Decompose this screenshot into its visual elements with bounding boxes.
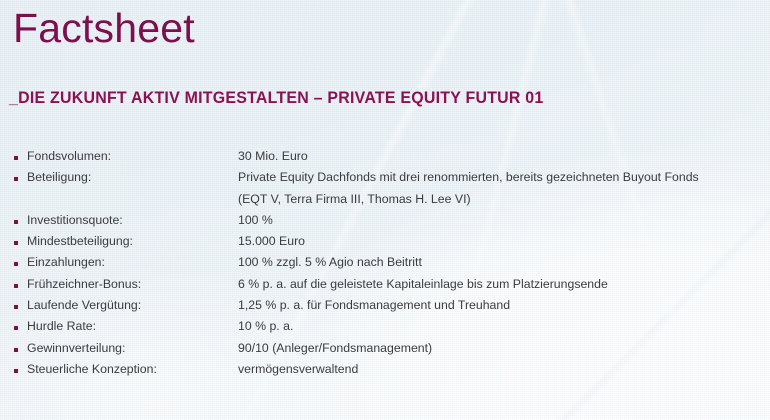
- spec-value: vermögensverwaltend: [238, 362, 358, 376]
- spec-row: Gewinnverteilung:90/10 (Anleger/Fondsman…: [0, 341, 770, 362]
- spec-label: Laufende Vergütung:: [27, 298, 141, 312]
- spec-row: Fondsvolumen:30 Mio. Euro: [0, 149, 770, 170]
- spec-label: Einzahlungen:: [27, 255, 105, 269]
- spec-label: Hurdle Rate:: [27, 319, 96, 333]
- spec-value: Private Equity Dachfonds mit drei renomm…: [238, 170, 699, 184]
- spec-value: 100 %: [238, 213, 273, 227]
- spec-label: Beteiligung:: [27, 170, 91, 184]
- spec-value: 100 % zzgl. 5 % Agio nach Beitritt: [238, 255, 422, 269]
- square-bullet-icon: [14, 241, 18, 245]
- section-heading: _DIE ZUKUNFT AKTIV MITGESTALTEN – PRIVAT…: [9, 89, 544, 108]
- square-bullet-icon: [14, 220, 18, 224]
- square-bullet-icon: [14, 369, 18, 373]
- spec-value-continuation: (EQT V, Terra Firma III, Thomas H. Lee V…: [238, 192, 471, 206]
- spec-row: Laufende Vergütung:1,25 % p. a. für Fond…: [0, 298, 770, 319]
- square-bullet-icon: [14, 326, 18, 330]
- spec-list: Fondsvolumen:30 Mio. EuroBeteiligung:Pri…: [0, 149, 770, 383]
- spec-label: Frühzeichner-Bonus:: [27, 277, 141, 291]
- spec-label: Mindestbeteiligung:: [27, 234, 133, 248]
- spec-row: Einzahlungen:100 % zzgl. 5 % Agio nach B…: [0, 255, 770, 276]
- spec-row: Mindestbeteiligung:15.000 Euro: [0, 234, 770, 255]
- factsheet-page: Factsheet _DIE ZUKUNFT AKTIV MITGESTALTE…: [0, 0, 770, 420]
- square-bullet-icon: [14, 177, 18, 181]
- square-bullet-icon: [14, 156, 18, 160]
- spec-label: Steuerliche Konzeption:: [27, 362, 157, 376]
- spec-row: Steuerliche Konzeption:vermögensverwalte…: [0, 362, 770, 383]
- spec-label: Gewinnverteilung:: [27, 341, 125, 355]
- page-title: Factsheet: [13, 3, 195, 54]
- square-bullet-icon: [14, 284, 18, 288]
- spec-label: Fondsvolumen:: [27, 149, 111, 163]
- spec-value: 6 % p. a. auf die geleistete Kapitaleinl…: [238, 277, 608, 291]
- spec-value: 10 % p. a.: [238, 319, 293, 333]
- spec-row: Investitionsquote:100 %: [0, 213, 770, 234]
- spec-label: Investitionsquote:: [27, 213, 123, 227]
- square-bullet-icon: [14, 262, 18, 266]
- spec-value: 30 Mio. Euro: [238, 149, 308, 163]
- spec-value: 15.000 Euro: [238, 234, 305, 248]
- spec-row: Beteiligung:Private Equity Dachfonds mit…: [0, 170, 770, 213]
- spec-row: Hurdle Rate:10 % p. a.: [0, 319, 770, 340]
- spec-value: 90/10 (Anleger/Fondsmanagement): [238, 341, 432, 355]
- spec-value: 1,25 % p. a. für Fondsmanagement und Tre…: [238, 298, 510, 312]
- spec-row: Frühzeichner-Bonus:6 % p. a. auf die gel…: [0, 277, 770, 298]
- square-bullet-icon: [14, 348, 18, 352]
- square-bullet-icon: [14, 305, 18, 309]
